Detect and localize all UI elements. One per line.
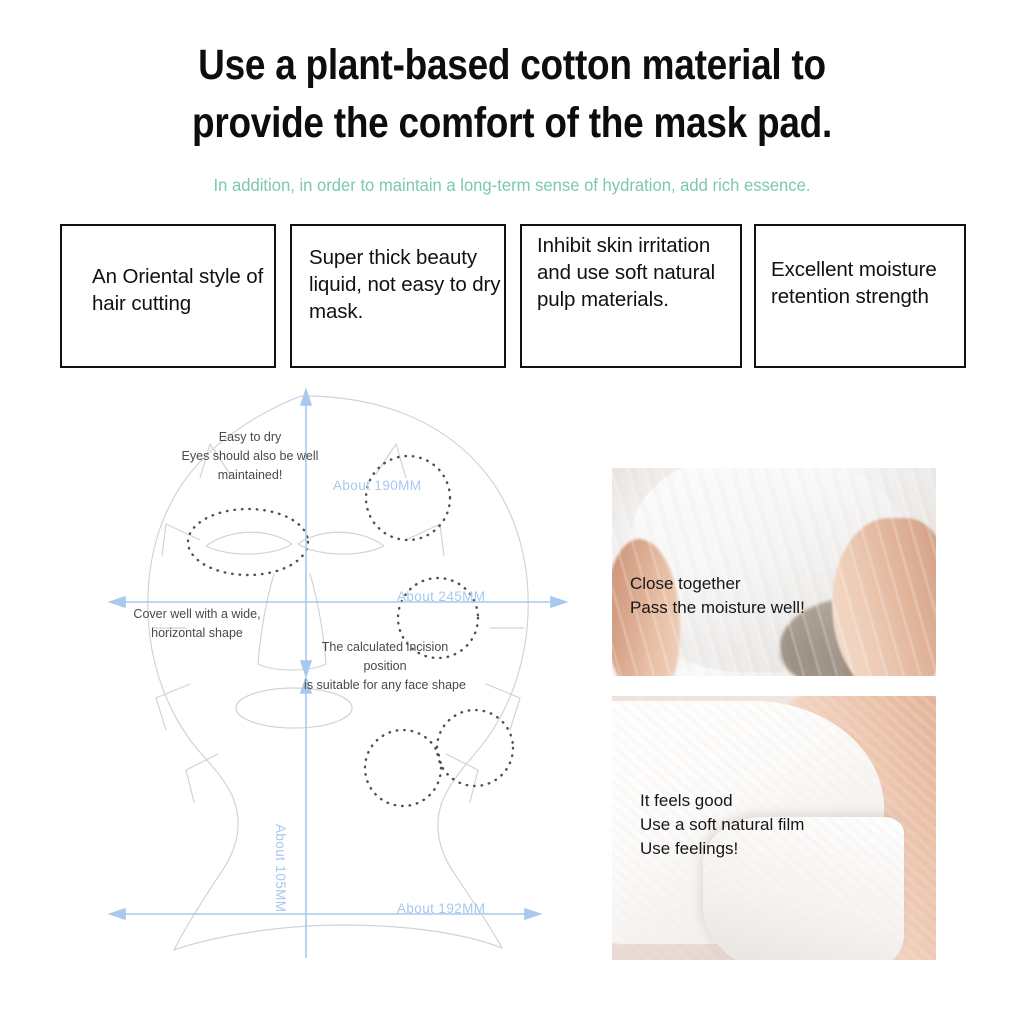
callout-jaw-lower	[365, 730, 441, 806]
callout-jaw-upper	[437, 710, 513, 786]
photo-2-caption: It feels good Use a soft natural film Us…	[640, 789, 804, 861]
diagram-note-incision: The calculated incision position is suit…	[300, 638, 470, 695]
feature-box-3-label: Inhibit skin irritation and use soft nat…	[537, 232, 742, 313]
dimension-label-vertical-lower: About 105MM	[273, 824, 288, 912]
feature-box-4-label: Excellent moisture retention strength	[771, 256, 971, 310]
diagram-note-cover: Cover well with a wide, horizontal shape	[112, 605, 282, 643]
feature-box-2-label: Super thick beauty liquid, not easy to d…	[309, 244, 509, 325]
headline-line-2: provide the comfort of the mask pad.	[72, 94, 953, 152]
dimension-label-horizontal-lower: About 192MM	[397, 901, 485, 916]
page-subtitle: In addition, in order to maintain a long…	[26, 174, 999, 196]
feature-box-1-label: An Oriental style of hair cutting	[92, 263, 282, 317]
dimension-label-vertical-upper: About 190MM	[333, 478, 421, 493]
photo-1-caption: Close together Pass the moisture well!	[630, 572, 805, 620]
page-headline: Use a plant-based cotton material to pro…	[72, 36, 953, 152]
diagram-note-eyes: Easy to dry Eyes should also be well mai…	[175, 428, 325, 485]
infographic-page: Use a plant-based cotton material to pro…	[0, 0, 1024, 1024]
dimension-label-horizontal-upper: About 245MM	[397, 589, 485, 604]
callout-eye-right	[366, 456, 450, 540]
headline-line-1: Use a plant-based cotton material to	[198, 41, 826, 89]
